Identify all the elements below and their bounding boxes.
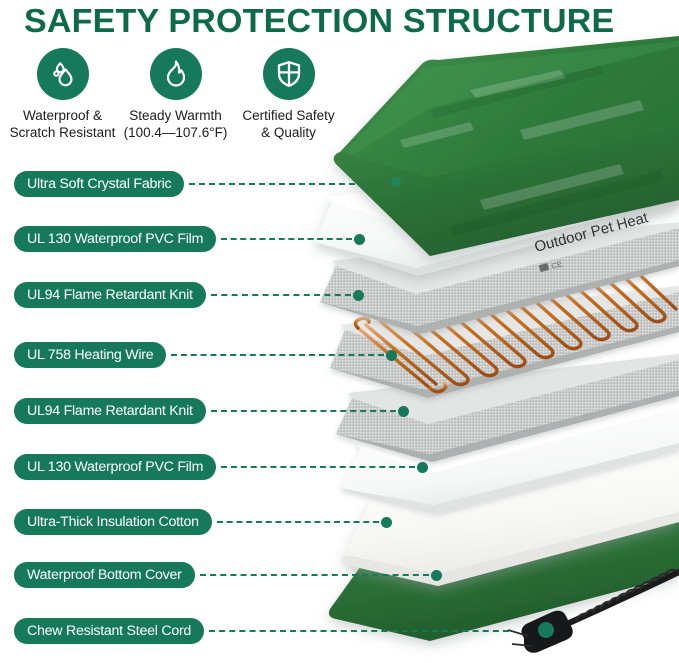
layer-callout: Ultra Soft Crystal Fabric [14,171,378,197]
layer-callout: UL94 Flame Retardant Knit [14,282,364,308]
product-label-text: Outdoor Pet Heat [533,209,651,256]
leader-endpoint-dot [417,462,428,473]
leader-line [211,410,396,412]
leader-endpoint-dot [431,570,442,581]
layer-callout: UL94 Flame Retardant Knit [14,398,409,424]
steel-spiral-cord [576,570,676,621]
leader-line [221,238,352,240]
layer-label-pill[interactable]: Chew Resistant Steel Cord [14,618,204,644]
power-cord-with-plug [508,570,679,653]
feature-caption: Steady Warmth (100.4—107.6°F) [124,107,228,142]
leader-endpoint-dot [354,234,365,245]
layer-flame-retardant-knit-upper [320,222,679,334]
copper-wire-serpentine [352,258,676,392]
layer-callout: UL 130 Waterproof PVC Film [14,454,428,480]
layer-heating-wire [330,258,679,398]
feature-list: Waterproof & Scratch Resistant Steady Wa… [6,48,345,142]
leader-endpoint-dot [386,350,397,361]
leader-endpoint-dot [353,290,364,301]
layer-label-pill[interactable]: Ultra-Thick Insulation Cotton [14,509,212,535]
feature-caption: Waterproof & Scratch Resistant [10,107,116,142]
leader-line [209,630,509,632]
feature-item-certified-safety: Certified Safety & Quality [232,48,345,142]
layer-callout: Waterproof Bottom Cover [14,562,442,588]
leader-line [171,354,384,356]
svg-text:CE: CE [550,259,563,271]
leader-line [217,521,379,523]
layer-callout: UL 130 Waterproof PVC Film [14,226,365,252]
leader-line [221,466,415,468]
leader-endpoint-dot [398,406,409,417]
layer-callout: Chew Resistant Steel Cord [14,618,522,644]
layer-callout: Ultra-Thick Insulation Cotton [14,509,392,535]
layer-label-pill[interactable]: UL94 Flame Retardant Knit [14,282,206,308]
feature-item-waterproof: Waterproof & Scratch Resistant [6,48,119,142]
cert-marks-icon: CE [539,259,564,274]
feature-item-steady-warmth: Steady Warmth (100.4—107.6°F) [119,48,232,142]
leader-line [211,294,351,296]
layer-callout: UL 758 Heating Wire [14,342,397,368]
feature-caption: Certified Safety & Quality [242,107,334,142]
shield-check-icon [263,48,315,100]
layer-label-pill[interactable]: UL 130 Waterproof PVC Film [14,454,216,480]
leader-line [189,183,365,185]
leader-endpoint-dot [381,517,392,528]
layer-label-pill[interactable]: UL 758 Heating Wire [14,342,166,368]
layer-crystal-fabric-top [334,36,679,256]
layer-label-pill[interactable]: Waterproof Bottom Cover [14,562,195,588]
page-title: SAFETY PROTECTION STRUCTURE [24,2,614,40]
layer-label-pill[interactable]: Ultra Soft Crystal Fabric [14,171,184,197]
infographic-root: Outdoor Pet Heat CE [0,0,679,663]
layer-label-pill[interactable]: UL94 Flame Retardant Knit [14,398,206,424]
flame-icon [150,48,202,100]
water-drops-icon [37,48,89,100]
plug-indicator-dot [538,622,554,638]
leader-line [200,574,429,576]
layer-label-pill[interactable]: UL 130 Waterproof PVC Film [14,226,216,252]
